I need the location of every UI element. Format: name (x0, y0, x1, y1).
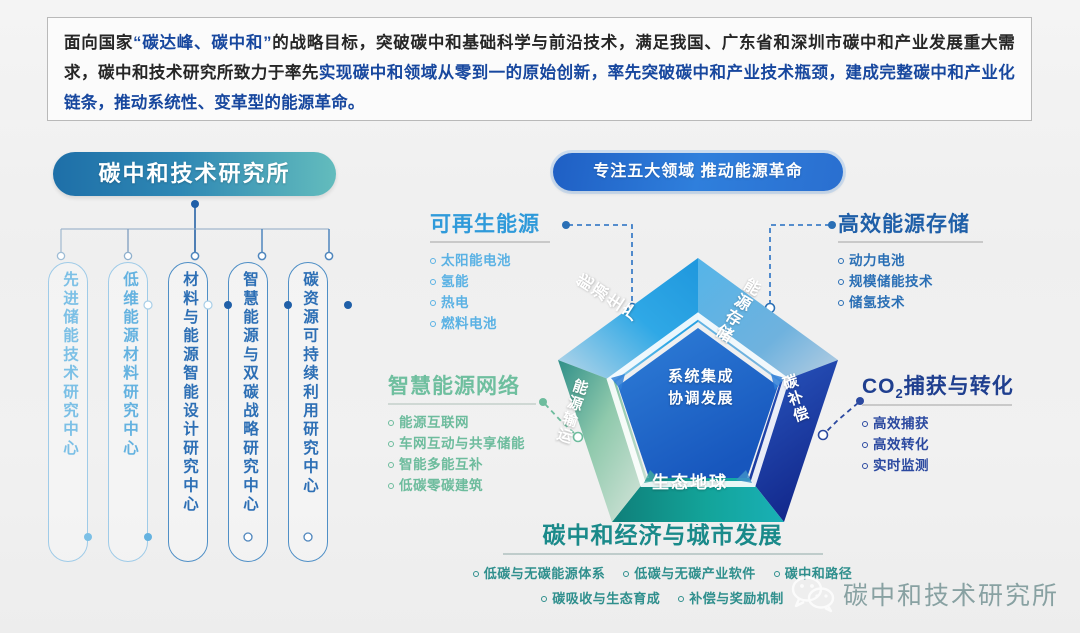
section-rule-storage (838, 241, 983, 243)
pentagon-core-line2: 协调发展 (651, 388, 751, 410)
section-title-storage: 高效能源存储 (838, 208, 983, 238)
list-item: 氢能 (430, 271, 550, 292)
pill-connector-dots (40, 250, 360, 570)
pentagon-diagram: 能源生产 能源存储 碳补偿 生态地球 能源输运 系统集成 协调发展 (548, 250, 848, 525)
institute-badge: 碳中和技术研究所 (53, 152, 336, 196)
header-plain-text: 面向国家 (64, 34, 133, 52)
section-smart-energy-network: 智慧能源网络 能源互联网 车网互动与共享储能 智能多能互补 低碳零碳建筑 (388, 370, 536, 496)
city-row-2: 碳吸收与生态育成 补偿与奖励机制 (541, 588, 784, 609)
list-item: 高效转化 (862, 434, 1014, 455)
list-item: 低碳与无碳能源体系 (473, 563, 606, 584)
pentagon-label-eco-earth: 生态地球 (652, 468, 728, 493)
list-item: 低碳零碳建筑 (388, 475, 536, 496)
section-energy-storage: 高效能源存储 动力电池 规模储能技术 储氢技术 (838, 208, 983, 313)
section-list-co2: 高效捕获 高效转化 实时监测 (862, 413, 1014, 476)
focus-areas-badge: 专注五大领域 推动能源革命 (553, 153, 843, 191)
list-item: 储氢技术 (838, 292, 983, 313)
co2-title-rest: 捕获与转化 (904, 375, 1014, 398)
section-title-city: 碳中和经济与城市发展 (455, 516, 870, 550)
section-title-smart: 智慧能源网络 (388, 370, 536, 400)
section-rule-city (503, 553, 823, 555)
list-item: 动力电池 (838, 250, 983, 271)
section-renewable-energy: 可再生能源 太阳能电池 氢能 热电 燃料电池 (430, 208, 550, 334)
section-list-renewable: 太阳能电池 氢能 热电 燃料电池 (430, 250, 550, 334)
list-item: 实时监测 (862, 455, 1014, 476)
list-item: 智能多能互补 (388, 454, 536, 475)
list-item: 太阳能电池 (430, 250, 550, 271)
list-item: 热电 (430, 292, 550, 313)
list-item: 规模储能技术 (838, 271, 983, 292)
header-statement-box: 面向国家“碳达峰、碳中和”的战略目标，突破碳中和基础科学与前沿技术，满足我国、广… (47, 17, 1032, 121)
co2-title-main: CO (862, 375, 896, 398)
section-co2-capture: CO2捕获与转化 高效捕获 高效转化 实时监测 (862, 370, 1014, 476)
pentagon-core-line1: 系统集成 (651, 366, 751, 388)
wechat-icon (790, 575, 836, 613)
section-rule-renewable (430, 241, 550, 243)
pentagon-core-text: 系统集成 协调发展 (651, 366, 751, 410)
header-statement-text: 面向国家“碳达峰、碳中和”的战略目标，突破碳中和基础科学与前沿技术，满足我国、广… (64, 28, 1015, 118)
list-item: 碳吸收与生态育成 (541, 588, 660, 609)
list-item: 高效捕获 (862, 413, 1014, 434)
section-rule-co2 (862, 404, 1012, 406)
focus-areas-label: 专注五大领域 推动能源革命 (553, 153, 843, 191)
section-title-renewable: 可再生能源 (430, 208, 550, 238)
list-item: 车网互动与共享储能 (388, 433, 536, 454)
wechat-watermark: 碳中和技术研究所 (790, 566, 1070, 622)
section-rule-smart (388, 403, 536, 405)
list-item: 低碳与无碳产业软件 (623, 563, 756, 584)
institute-badge-label: 碳中和技术研究所 (53, 152, 336, 196)
co2-title-sub: 2 (896, 386, 904, 401)
list-item: 补偿与奖励机制 (678, 588, 784, 609)
header-highlight-text: “碳达峰、碳中和” (133, 34, 272, 52)
section-list-smart: 能源互联网 车网互动与共享储能 智能多能互补 低碳零碳建筑 (388, 412, 536, 496)
watermark-label: 碳中和技术研究所 (843, 576, 1059, 612)
section-list-storage: 动力电池 规模储能技术 储氢技术 (838, 250, 983, 313)
list-item: 燃料电池 (430, 313, 550, 334)
section-title-co2: CO2捕获与转化 (862, 370, 1014, 401)
list-item: 能源互联网 (388, 412, 536, 433)
